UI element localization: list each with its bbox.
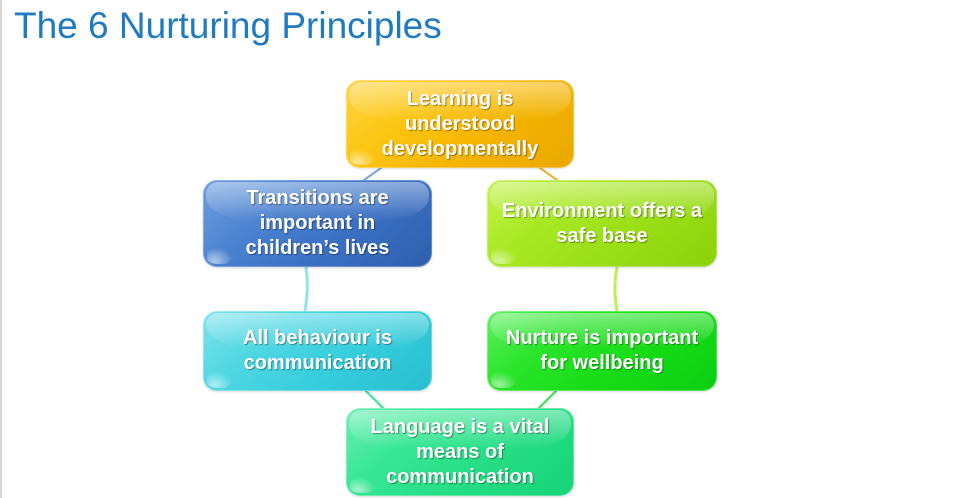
- node-transitions[interactable]: Transitions are important in children’s …: [203, 180, 432, 267]
- slide-canvas: The 6 Nurturing Principles Learning is u…: [0, 0, 961, 498]
- node-language[interactable]: Language is a vital means of communicati…: [346, 408, 574, 496]
- node-nurture[interactable]: Nurture is important for wellbeing: [487, 311, 717, 391]
- connector-environment-nurture: [615, 267, 617, 311]
- node-behaviour-label: All behaviour is communication: [213, 326, 422, 376]
- connector-transitions-behaviour: [305, 267, 307, 311]
- node-environment-label: Environment offers a safe base: [497, 199, 707, 249]
- node-learning[interactable]: Learning is understood developmentally: [346, 80, 574, 168]
- connector-behaviour-language: [366, 391, 383, 408]
- node-language-label: Language is a vital means of communicati…: [356, 415, 564, 490]
- connector-nurture-language: [539, 391, 556, 408]
- node-behaviour[interactable]: All behaviour is communication: [203, 311, 432, 391]
- connector-learning-transitions: [364, 168, 381, 180]
- node-nurture-label: Nurture is important for wellbeing: [497, 326, 707, 376]
- node-environment[interactable]: Environment offers a safe base: [487, 180, 717, 267]
- connector-learning-environment: [540, 168, 557, 180]
- node-transitions-label: Transitions are important in children’s …: [213, 186, 422, 261]
- node-learning-label: Learning is understood developmentally: [356, 87, 564, 162]
